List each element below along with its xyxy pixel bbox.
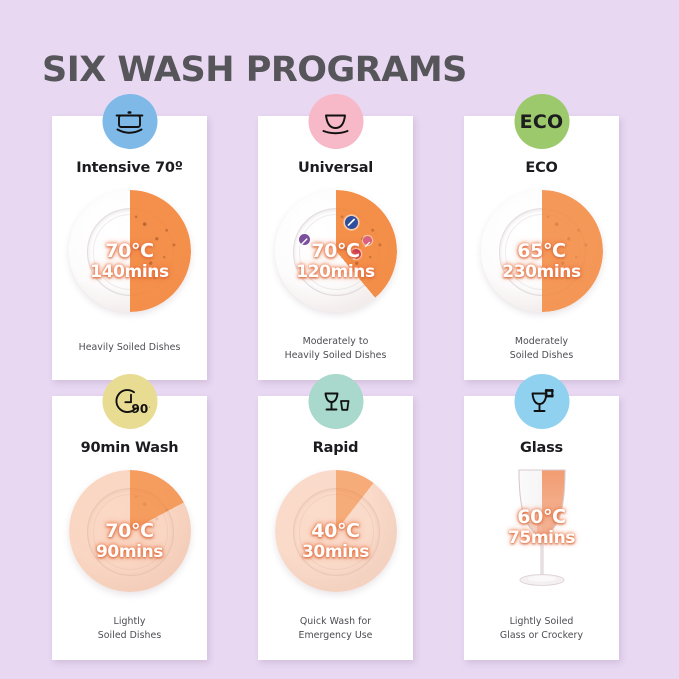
caption-line: Soiled Dishes: [52, 629, 207, 642]
program-visual-plate: 40℃ 30mins: [271, 466, 401, 596]
page-title: SIX WASH PROGRAMS: [42, 50, 467, 90]
program-visual-plate: 70℃ 140mins: [65, 186, 195, 316]
plate-graphic: [275, 470, 397, 592]
caption-line: Heavily Soiled Dishes: [52, 341, 207, 354]
program-caption: Lightly Soiled Glass or Crockery: [464, 615, 619, 642]
plate-graphic: [69, 190, 191, 312]
program-badge-intensive: [102, 94, 157, 149]
program-title: 90min Wash: [81, 440, 179, 456]
program-grid: Intensive 70º 70℃ 140mins Heavily Soiled…: [52, 116, 628, 660]
caption-line: Emergency Use: [258, 629, 413, 642]
plate-graphic: [275, 190, 397, 312]
program-caption: Moderately to Heavily Soiled Dishes: [258, 335, 413, 362]
program-title: Universal: [298, 160, 373, 176]
plate-soil-wedge: [275, 470, 397, 592]
germ-purple-icon: [299, 234, 310, 245]
caption-line: Glass or Crockery: [464, 629, 619, 642]
program-visual-plate: 70℃ 90mins: [65, 466, 195, 596]
wine-glass-graphic: [477, 460, 607, 600]
svg-text:90’: 90’: [132, 402, 150, 416]
caption-line: Quick Wash for: [258, 615, 413, 628]
program-caption: Quick Wash for Emergency Use: [258, 615, 413, 642]
caption-line: Moderately to: [258, 335, 413, 348]
germ-blue-icon: [345, 216, 358, 229]
program-card-eco[interactable]: ECO ECO 65℃ 230mins Moderately Soiled Di…: [464, 116, 619, 380]
plate-graphic: [69, 470, 191, 592]
program-caption: Heavily Soiled Dishes: [52, 341, 207, 354]
program-title: Rapid: [313, 440, 359, 456]
program-visual-wine-glass: 60℃ 75mins: [477, 460, 607, 600]
pot-icon: [113, 107, 147, 137]
program-caption: Moderately Soiled Dishes: [464, 335, 619, 362]
program-title: ECO: [525, 160, 557, 176]
caption-line: Lightly Soiled: [464, 615, 619, 628]
germ-pink-icon: [363, 236, 372, 245]
wine-glass-sparkle-icon: [526, 386, 558, 418]
caption-line: Soiled Dishes: [464, 349, 619, 362]
program-visual-plate: 70℃ 120mins: [271, 186, 401, 316]
caption-line: Lightly: [52, 615, 207, 628]
program-card-90min-wash[interactable]: 90’ 90min Wash 70℃ 90mins Lightly Soiled…: [52, 396, 207, 660]
germ-rose-icon: [351, 249, 361, 259]
program-badge-glass: [514, 374, 569, 429]
eco-text-icon: ECO: [520, 111, 564, 133]
program-card-rapid[interactable]: Rapid 40℃ 30mins Quick Wash for Emergenc…: [258, 396, 413, 660]
clock-90-icon: 90’: [110, 386, 150, 418]
program-card-universal[interactable]: Universal 70℃ 120mins: [258, 116, 413, 380]
program-badge-eco: ECO: [514, 94, 569, 149]
program-card-glass[interactable]: Glass: [464, 396, 619, 660]
glassware-icon: [318, 387, 354, 417]
caption-line: Heavily Soiled Dishes: [258, 349, 413, 362]
caption-line: Moderately: [464, 335, 619, 348]
program-badge-90min-wash: 90’: [102, 374, 157, 429]
program-visual-plate: 65℃ 230mins: [477, 186, 607, 316]
program-badge-universal: [308, 94, 363, 149]
program-title: Intensive 70º: [76, 160, 183, 176]
program-caption: Lightly Soiled Dishes: [52, 615, 207, 642]
bowl-icon: [319, 108, 353, 136]
plate-graphic: [481, 190, 603, 312]
program-badge-rapid: [308, 374, 363, 429]
program-title: Glass: [520, 440, 563, 456]
program-card-intensive[interactable]: Intensive 70º 70℃ 140mins Heavily Soiled…: [52, 116, 207, 380]
